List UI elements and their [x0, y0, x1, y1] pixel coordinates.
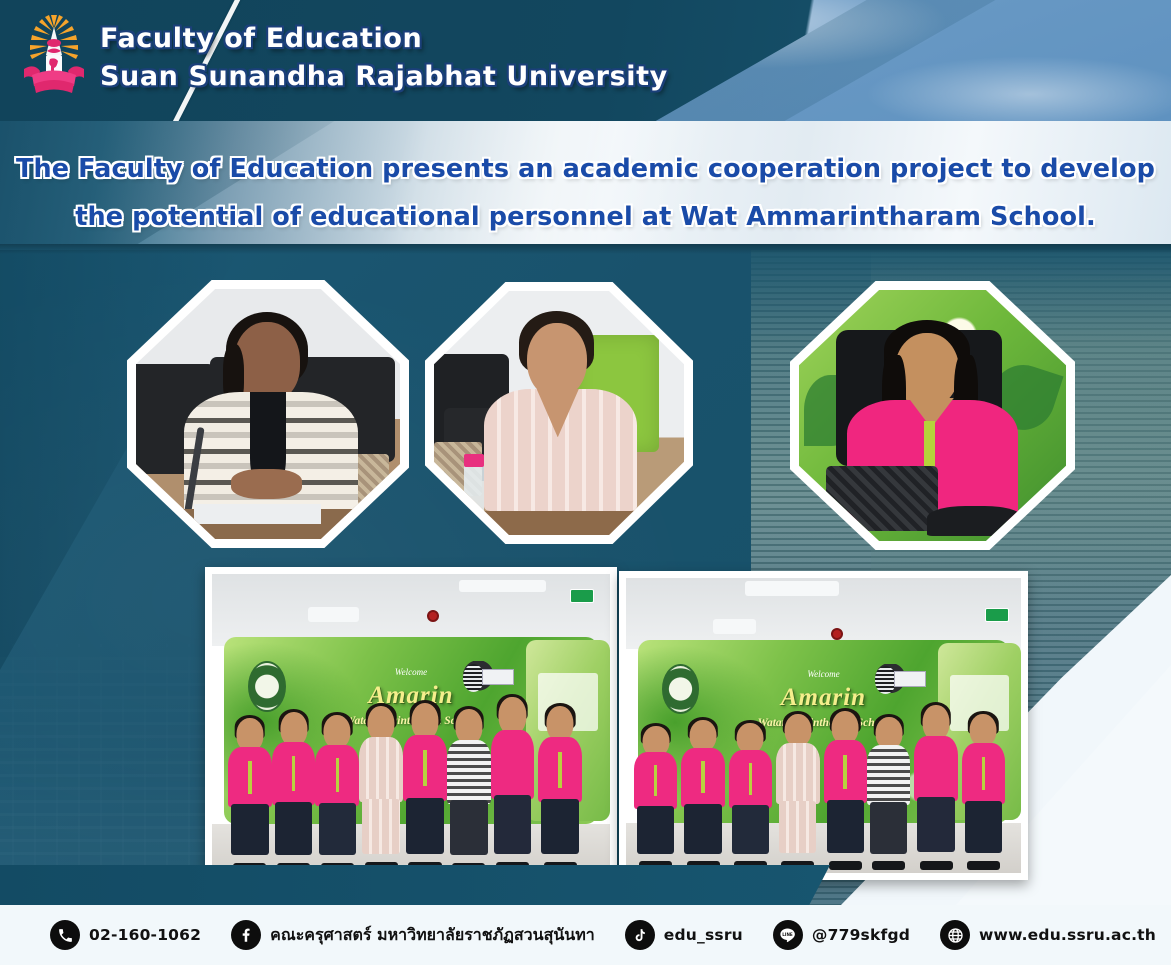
- group1-person: [491, 697, 535, 869]
- contact-facebook[interactable]: คณะครุศาสตร์ มหาวิทยาลัยราชภัฏสวนสุนันทา: [231, 920, 595, 950]
- ssru-emblem-logo: [18, 13, 90, 101]
- phone-number: 02-160-1062: [89, 926, 201, 944]
- group1-person: [538, 706, 582, 869]
- group-photo-2: Welcome Amarin Watammarintharam School: [619, 571, 1028, 880]
- group1-person: [403, 703, 447, 869]
- facebook-page-name: คณะครุศาสตร์ มหาวิทยาลัยราชภัฏสวนสุนันทา: [270, 923, 595, 948]
- backdrop-welcome-2: Welcome: [745, 669, 903, 679]
- line-id: @779skfgd: [812, 926, 910, 944]
- line-icon: LINE: [773, 920, 803, 950]
- website-url: www.edu.ssru.ac.th: [979, 926, 1156, 944]
- group1-person: [228, 718, 272, 869]
- portrait-2-image: [434, 291, 684, 535]
- phone-icon: [50, 920, 80, 950]
- group1-person: [447, 709, 491, 869]
- title-band: The Faculty of Education presents an aca…: [0, 121, 1171, 244]
- backdrop-title-2: Amarin: [729, 684, 919, 712]
- portrait-1-image: [136, 289, 400, 539]
- group1-person: [272, 712, 316, 869]
- tiktok-handle: edu_ssru: [664, 926, 743, 944]
- header-bar: Faculty of Education Suan Sunandha Rajab…: [0, 0, 1171, 121]
- poster-title: The Faculty of Education presents an aca…: [0, 145, 1171, 241]
- contact-website[interactable]: www.edu.ssru.ac.th: [940, 920, 1156, 950]
- title-line-1: The Faculty of Education presents an aca…: [0, 145, 1171, 193]
- school-seal-icon: [248, 661, 286, 712]
- footer-teal-strip: [0, 865, 830, 905]
- contact-phone[interactable]: 02-160-1062: [50, 920, 201, 950]
- contact-tiktok[interactable]: edu_ssru: [625, 920, 743, 950]
- group2-person: [634, 726, 677, 868]
- tiktok-icon: [625, 920, 655, 950]
- group2-person: [729, 723, 772, 868]
- backdrop-welcome-1: Welcome: [331, 667, 490, 677]
- group2-person: [681, 720, 724, 868]
- contact-line[interactable]: LINE @779skfgd: [773, 920, 910, 950]
- header-title-group: Faculty of Education Suan Sunandha Rajab…: [100, 20, 668, 96]
- title-line-2: the potential of educational personnel a…: [0, 193, 1171, 241]
- group-photo-2-image: Welcome Amarin Watammarintharam School: [626, 578, 1021, 873]
- title-band-shadow: [0, 244, 1171, 254]
- website-icon: [940, 920, 970, 950]
- group1-person: [359, 706, 403, 869]
- poster-root: Faculty of Education Suan Sunandha Rajab…: [0, 0, 1171, 965]
- portrait-3: [790, 281, 1075, 550]
- group2-person: [914, 705, 957, 867]
- group2-person: [824, 711, 867, 867]
- group-photo-1: Welcome Amarin Watammarintharam School: [205, 567, 617, 882]
- group2-person: [776, 714, 819, 867]
- footer-contact-bar: 02-160-1062 คณะครุศาสตร์ มหาวิทยาลัยราชภ…: [0, 905, 1171, 965]
- group2-person: [962, 714, 1005, 867]
- group-photo-1-image: Welcome Amarin Watammarintharam School: [212, 574, 610, 875]
- portrait-3-image: [799, 290, 1066, 541]
- school-seal-icon: [662, 664, 700, 714]
- group1-person: [315, 715, 359, 869]
- facebook-icon: [231, 920, 261, 950]
- svg-text:LINE: LINE: [783, 931, 794, 936]
- header-line-1: Faculty of Education: [100, 20, 668, 58]
- header-line-2: Suan Sunandha Rajabhat University: [100, 58, 668, 96]
- group2-person: [867, 717, 910, 867]
